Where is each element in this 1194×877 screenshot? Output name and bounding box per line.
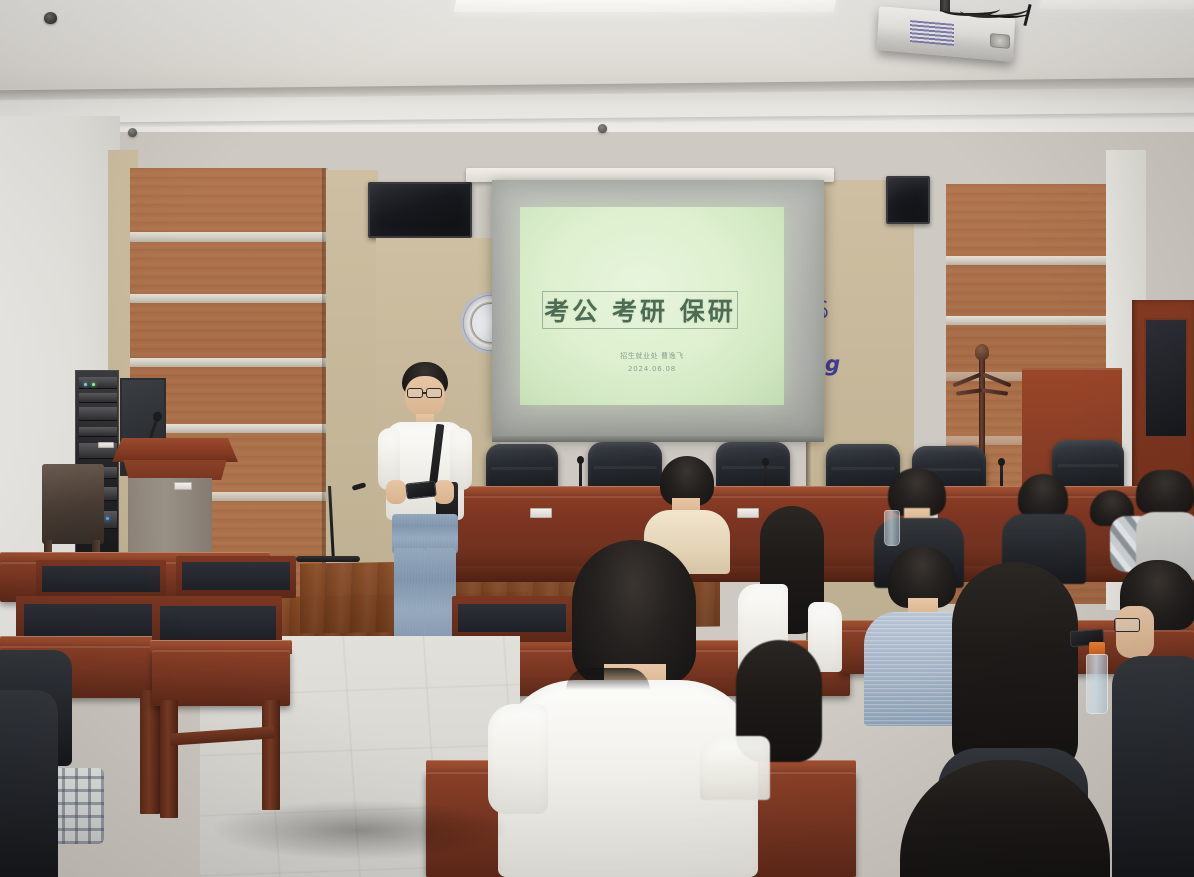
presenter-glasses-right	[426, 388, 442, 398]
wall-stripe-l2	[130, 294, 326, 303]
coat-rack-arm-2	[982, 373, 1011, 388]
presenter-phone[interactable]	[405, 480, 437, 499]
wall-display-left	[368, 182, 472, 238]
fire-sprinkler-head-2	[128, 128, 137, 137]
student-white-mid	[700, 640, 830, 800]
wall-stripe-l3	[130, 358, 326, 367]
student-front-sleeve-left	[488, 704, 548, 814]
ceiling-projector	[878, 0, 1058, 62]
slide-title-box: 考公 考研 保研	[542, 291, 738, 329]
student-dark-back-hair	[1018, 474, 1068, 518]
student-far-right-hair	[952, 562, 1078, 776]
ceiling-light-strip-right	[1039, 0, 1194, 9]
presenter-glasses-bridge	[423, 392, 426, 394]
presenter-forearm-right	[434, 480, 454, 504]
podium-side-label	[98, 442, 114, 448]
bench-panel-left1	[42, 566, 160, 592]
wall-stripe-r1	[946, 256, 1110, 265]
side-chair[interactable]	[42, 464, 104, 544]
projection-screen: 考公 考研 保研 招生就业处 曹逸飞 2024.06.08	[492, 180, 824, 438]
door-window	[1144, 318, 1188, 438]
student-front-hair-nape	[566, 668, 650, 690]
bench-panel-center-left	[160, 606, 276, 640]
presenter-sleeve-right	[450, 428, 472, 490]
bench-leg-left2	[140, 690, 160, 814]
slide-title: 考公 考研 保研	[544, 292, 735, 328]
slide-date-line: 2024.06.08	[520, 365, 784, 373]
bench-desk-center-left	[152, 650, 290, 706]
coat-rack-arm-1	[952, 373, 981, 388]
student-white-mid-top	[700, 736, 770, 800]
presenter-forearm-left	[386, 480, 406, 504]
bench-leg-center-left-2	[262, 700, 280, 810]
projector-lens	[990, 33, 1010, 49]
student-fg-br-hair	[900, 760, 1110, 877]
bench-leg-center-left	[160, 700, 178, 818]
wall-stripe-r2	[946, 316, 1110, 325]
presenter-glasses-left	[407, 388, 423, 398]
slide-presenter-line: 招生就业处 曹逸飞	[520, 351, 784, 361]
bench-panel-left1b	[182, 562, 290, 590]
floor-shadow	[210, 800, 510, 860]
student-glasses-right-top	[1112, 656, 1194, 877]
podium-top	[112, 438, 238, 462]
presentation-slide: 考公 考研 保研 招生就业处 曹逸飞 2024.06.08	[520, 207, 784, 405]
lecture-hall-photo: 𝕊 ng 考公 考研 保研 招生就业处 曹逸飞 2024.06.08	[0, 0, 1194, 877]
podium-label	[174, 482, 192, 490]
podium-mid	[120, 460, 230, 480]
student-foreground-left-edge	[0, 690, 70, 877]
bench-panel-left2	[24, 604, 160, 638]
student-foreground-bottom-right	[900, 760, 1120, 877]
student-fg-left-top	[0, 690, 58, 877]
fire-sprinkler-head-3	[598, 124, 607, 133]
wall-display-right	[886, 176, 930, 224]
student-glasses-right-lens	[1114, 618, 1140, 632]
desk-nameplate-1	[530, 508, 552, 518]
water-bottle[interactable]	[1084, 642, 1110, 714]
coat-rack-arm-4	[982, 388, 1008, 396]
projector-cables	[940, 0, 1050, 28]
student-glasses-ur-hair	[1136, 470, 1194, 514]
student-glasses-right-face	[1116, 606, 1154, 658]
wall-stripe-l1	[130, 232, 326, 242]
student-glasses-right	[1112, 560, 1194, 877]
mic-stand-base	[296, 556, 360, 562]
water-bottle-2[interactable]	[884, 506, 900, 546]
ceiling-light-strip	[454, 0, 837, 12]
water-bottle-body	[1086, 654, 1108, 714]
fire-sprinkler-head	[44, 12, 57, 24]
